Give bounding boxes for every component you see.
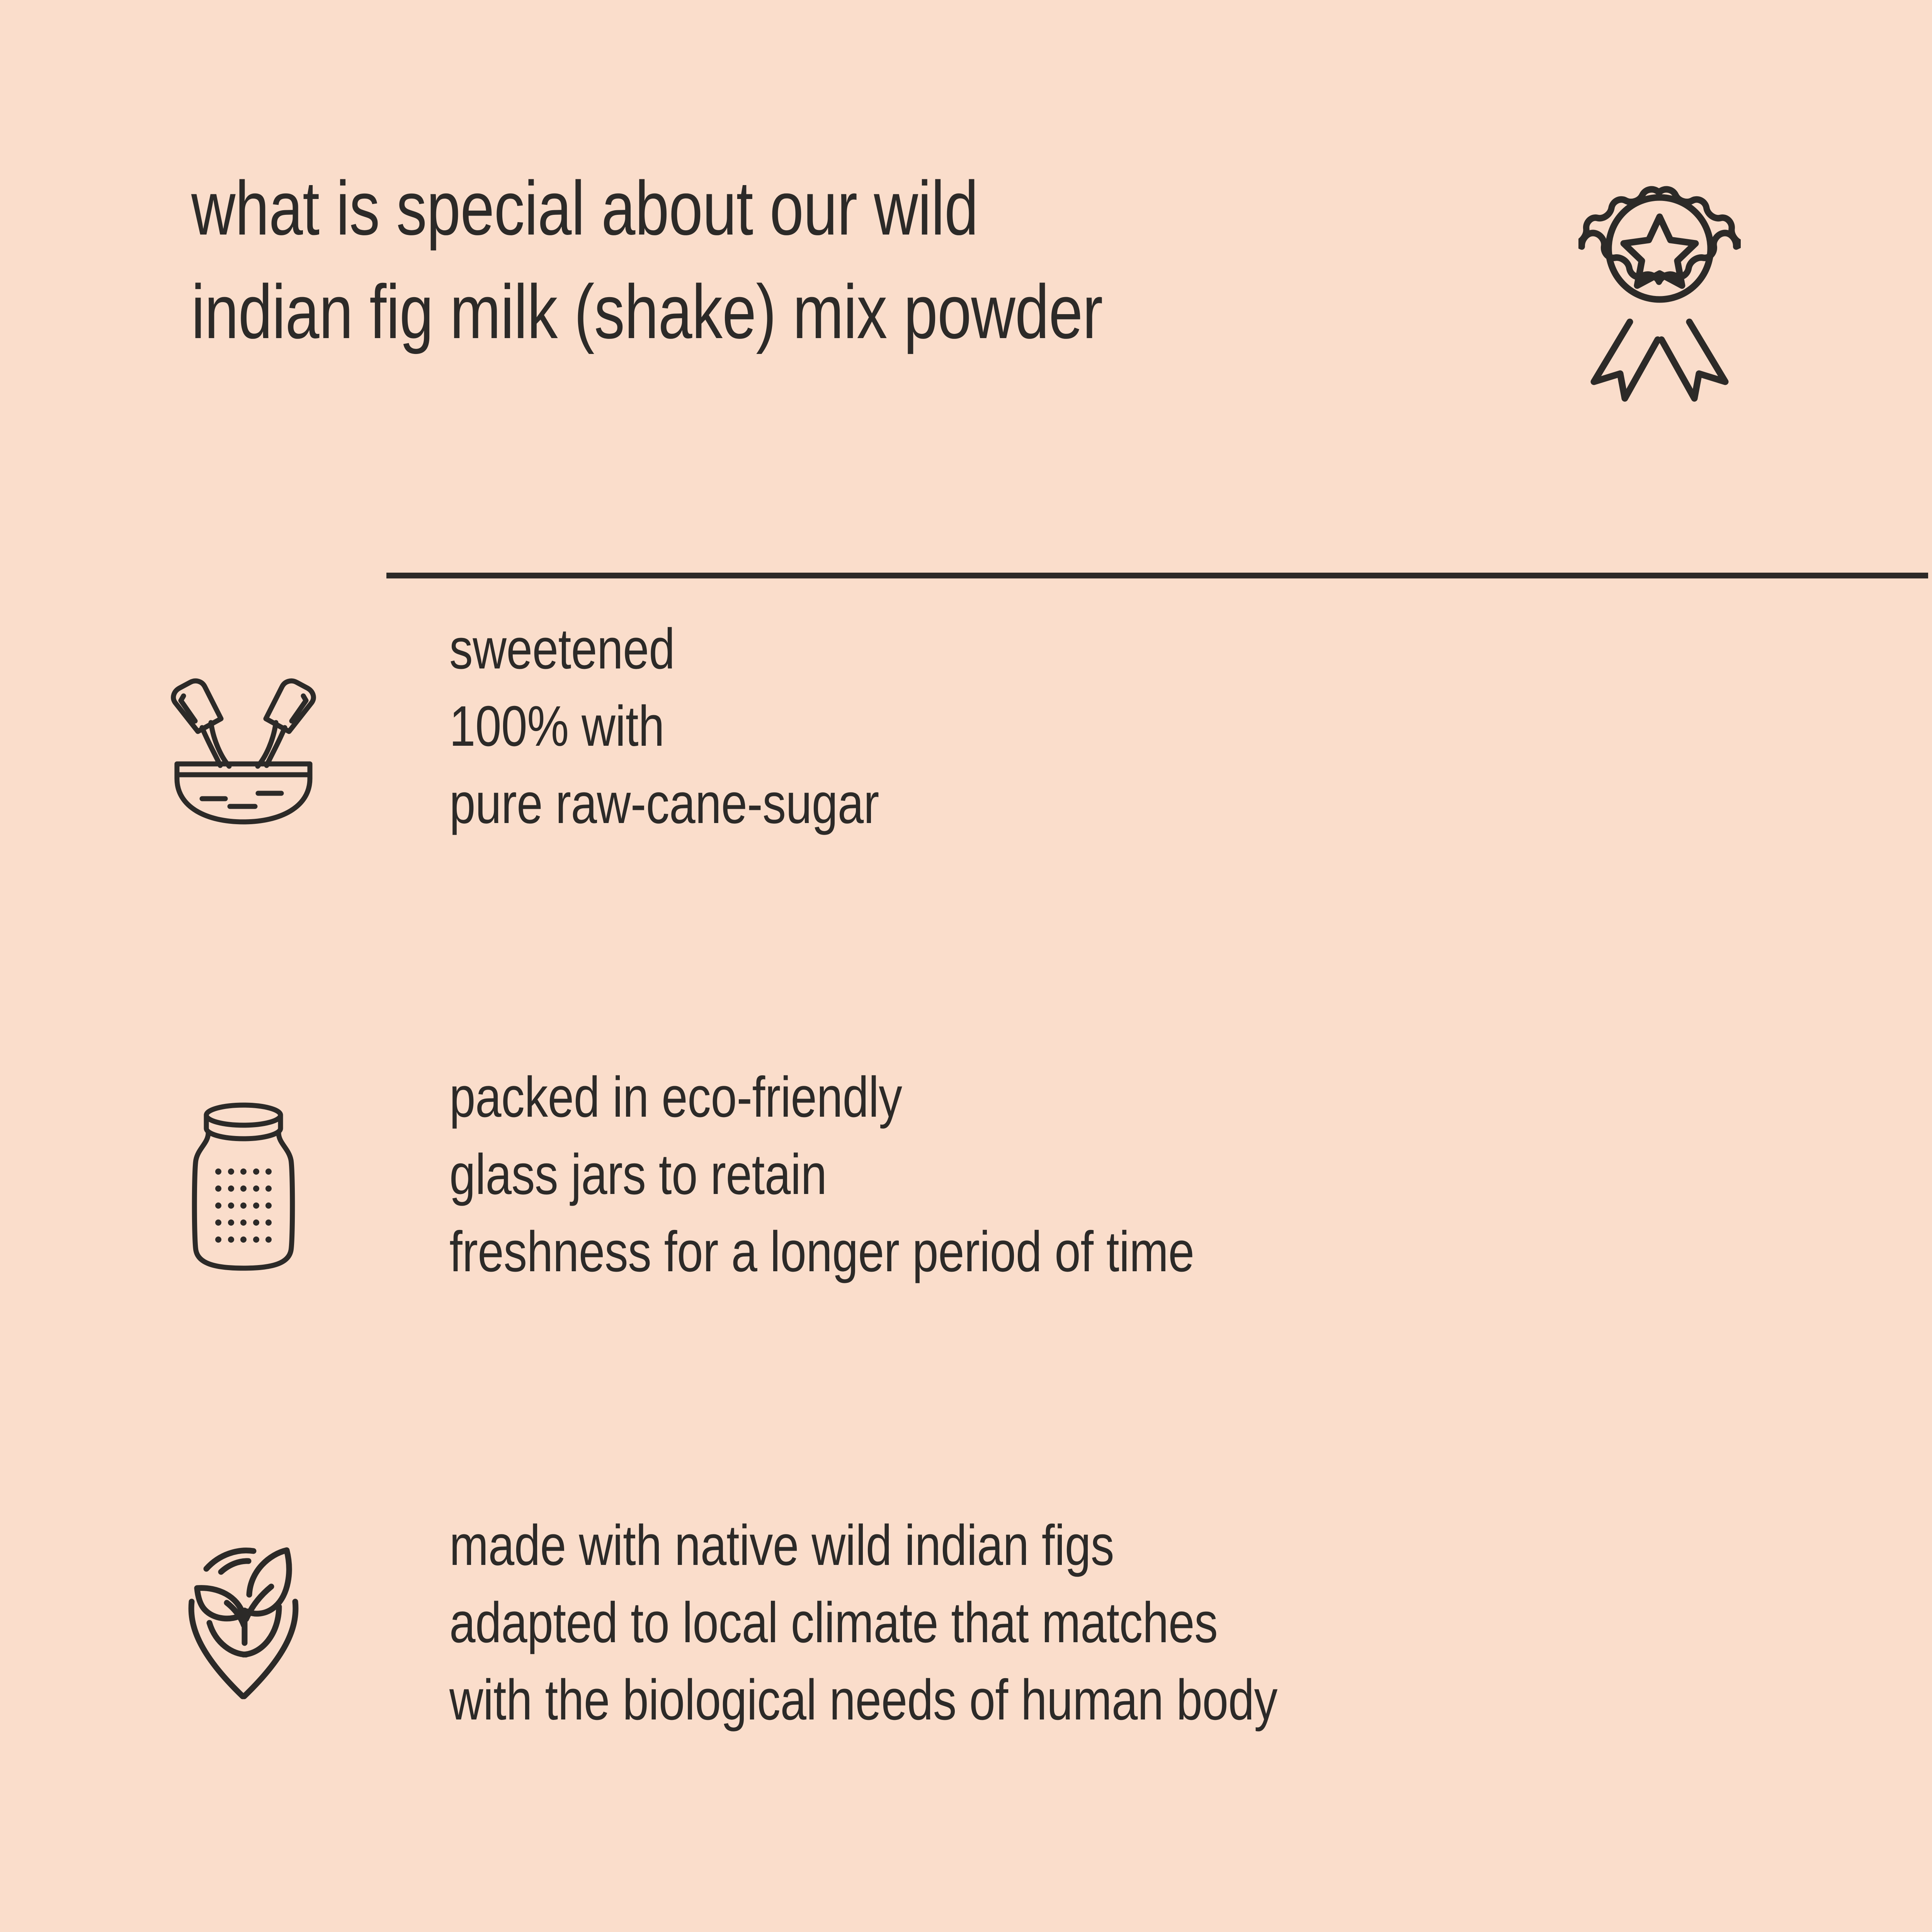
award-ribbon-star-icon <box>1578 172 1741 404</box>
feature-text-native-figs: made with native wild indian figs adapte… <box>449 1507 1495 1739</box>
feature-line: packed in eco-friendly <box>449 1059 1495 1136</box>
sugar-sachets-pouring-into-bowl-icon <box>155 663 332 864</box>
feature-text-packaging: packed in eco-friendly glass jars to ret… <box>449 1059 1495 1291</box>
feature-line: 100% with <box>449 688 1495 765</box>
glass-mason-jar-icon <box>155 1101 332 1302</box>
feature-row-packaging: packed in eco-friendly glass jars to ret… <box>0 1059 1932 1507</box>
feature-line: made with native wild indian figs <box>449 1507 1495 1584</box>
page-title: what is special about our wild indian fi… <box>191 156 1273 364</box>
feature-line: sweetened <box>449 611 1495 688</box>
feature-line: with the biological needs of human body <box>449 1662 1495 1739</box>
feature-row-sweetener: sweetened 100% with pure raw-cane-sugar <box>0 611 1932 1059</box>
poster-canvas: what is special about our wild indian fi… <box>0 0 1932 1932</box>
sprout-leaf-seed-icon <box>155 1530 332 1731</box>
header-divider <box>386 573 1928 578</box>
feature-list: sweetened 100% with pure raw-cane-sugar <box>0 611 1932 1932</box>
feature-text-sweetener: sweetened 100% with pure raw-cane-sugar <box>449 611 1495 842</box>
feature-line: glass jars to retain <box>449 1136 1495 1213</box>
page-title-line-1: what is special about our wild <box>191 156 1273 260</box>
feature-line: adapted to local climate that matches <box>449 1584 1495 1662</box>
page-title-line-2: indian fig milk (shake) mix powder <box>191 260 1273 364</box>
feature-row-native-figs: made with native wild indian figs adapte… <box>0 1507 1932 1932</box>
feature-line: pure raw-cane-sugar <box>449 765 1495 842</box>
header: what is special about our wild indian fi… <box>191 156 1741 427</box>
feature-line: freshness for a longer period of time <box>449 1213 1495 1291</box>
